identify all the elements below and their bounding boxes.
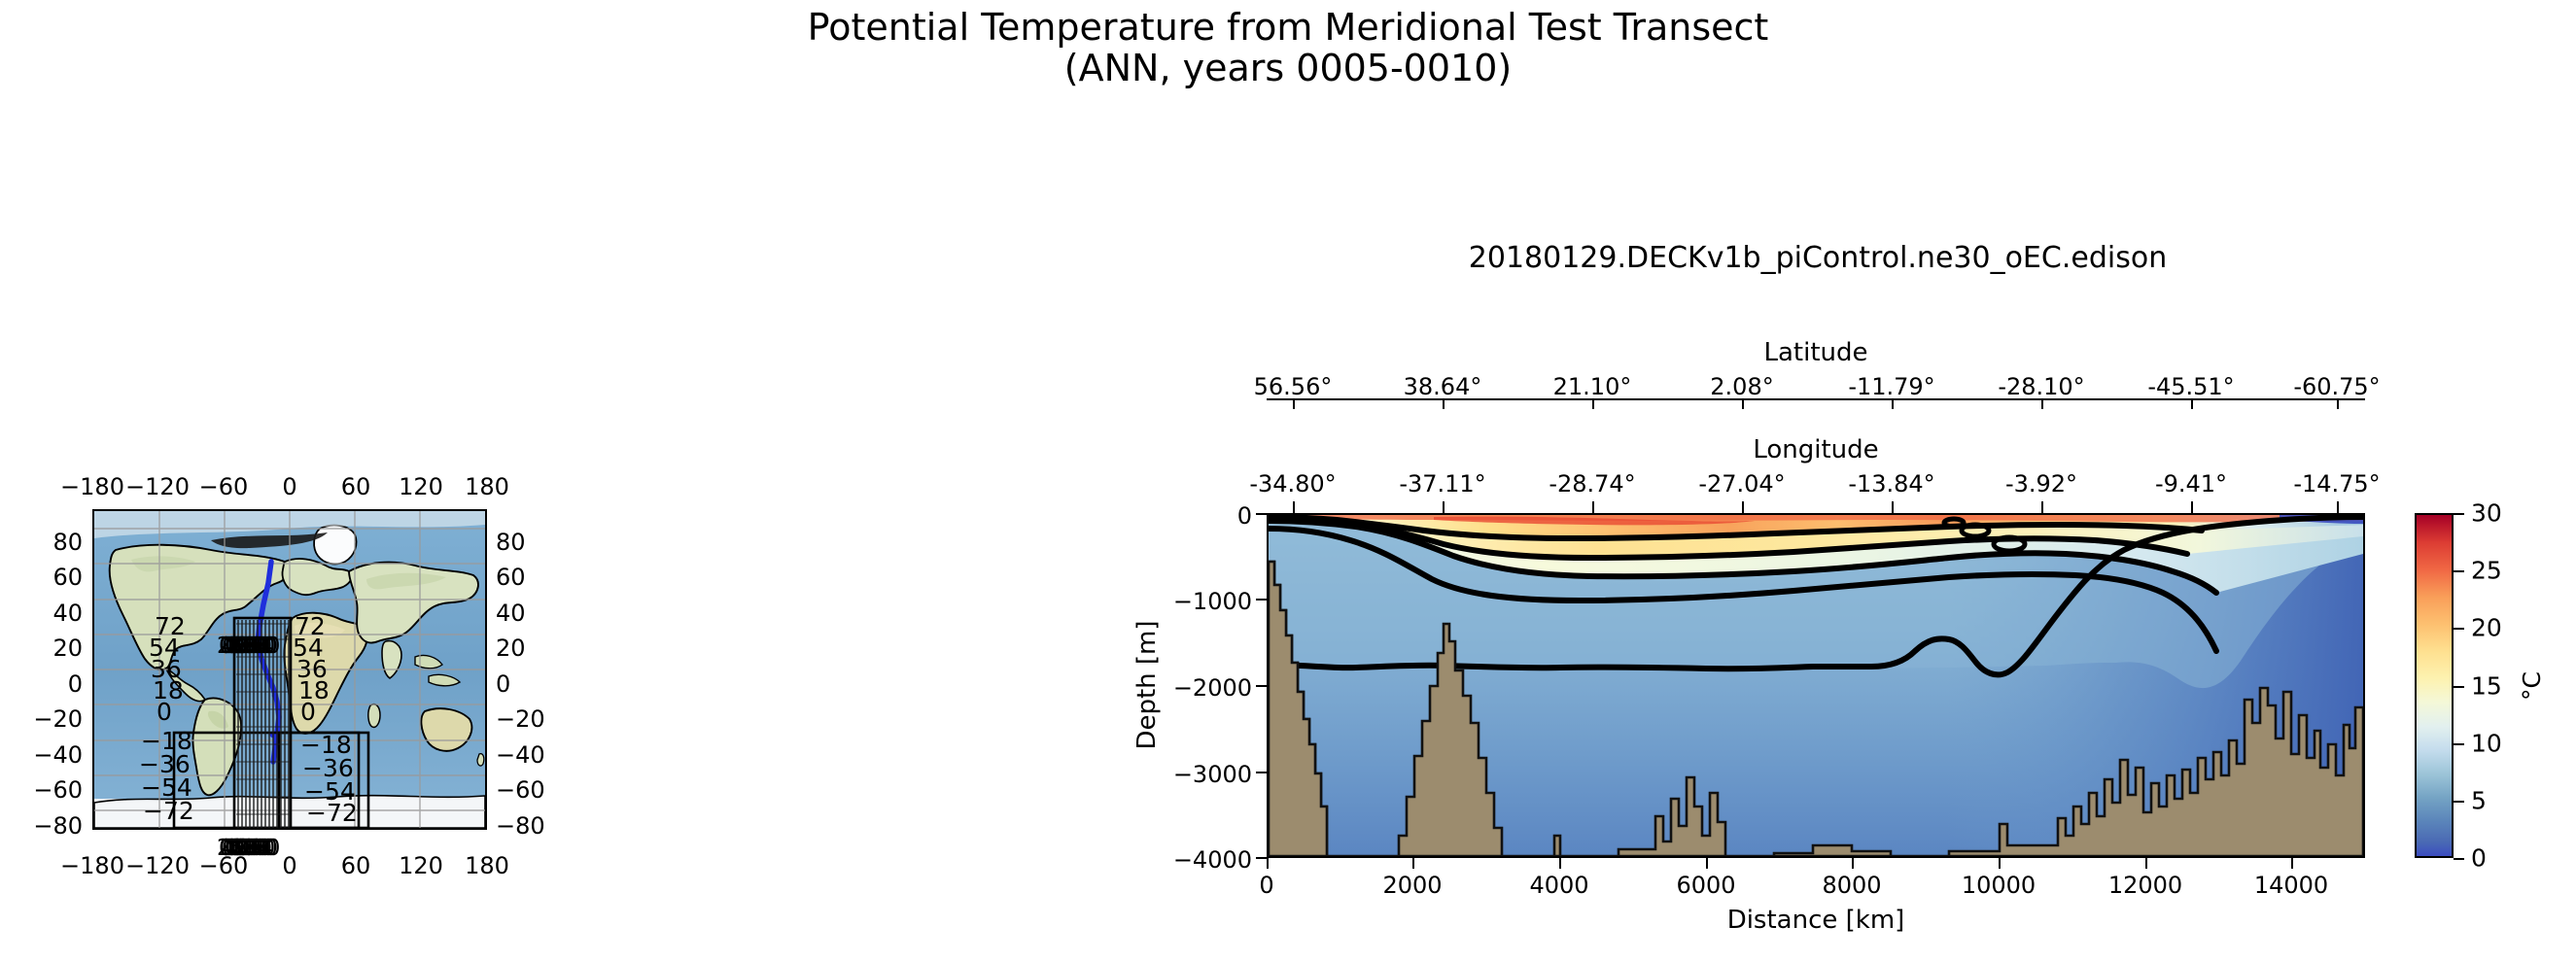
latitude-tick-0: 56.56°: [1254, 373, 1333, 400]
map-xtick-top-6: 180: [465, 473, 509, 500]
colorbar-gradient[interactable]: [2415, 513, 2454, 858]
longitude-axis-label: Longitude: [1753, 435, 1878, 464]
xtick-mark-2: [1559, 858, 1561, 869]
depth-tick-3: −3000: [1173, 761, 1252, 788]
cbtick-5: [2454, 570, 2464, 572]
map-xtick-bottom-4: 60: [341, 852, 371, 879]
map-xtick-top-4: 60: [341, 473, 371, 500]
top-tick-1: [1443, 501, 1445, 513]
figure-suptitle-line1: Potential Temperature from Meridional Te…: [808, 6, 1769, 49]
top-tick-3: [1742, 501, 1744, 513]
overlap-right-8: −72: [306, 799, 358, 827]
top-tick-7: [2337, 501, 2339, 513]
map-ytick-left-3: 20: [52, 635, 83, 662]
xtick-mark-1: [1412, 858, 1414, 869]
cbtick-0: [2454, 858, 2464, 860]
map-ytick-left-7: −60: [33, 776, 83, 804]
top-tick-4: [1892, 501, 1894, 513]
longitude-tick-1: -37.11°: [1399, 470, 1485, 498]
lat-tick-0: [1293, 398, 1295, 409]
colorbar-unit-label: °C: [2518, 671, 2546, 701]
distance-axis-label: Distance [km]: [1727, 906, 1905, 935]
ytick-mark-4: [1256, 857, 1267, 859]
latitude-tick-7: -60.75°: [2293, 373, 2380, 400]
map-ytick-right-3: 20: [496, 635, 526, 662]
map-ytick-right-4: 0: [496, 670, 510, 698]
section-axes[interactable]: [1267, 513, 2365, 858]
lat-tick-6: [2191, 398, 2193, 409]
xtick-mark-5: [1999, 858, 2001, 869]
overlap-left-4: 0: [157, 698, 172, 726]
map-xtick-bottom-6: 180: [465, 852, 509, 879]
map-xtick-top-2: −60: [199, 473, 249, 500]
overlap-left-8: −72: [143, 797, 194, 825]
longitude-tick-3: -27.04°: [1698, 470, 1785, 498]
cbtick-4: [2454, 628, 2464, 630]
lat-tick-5: [2041, 398, 2043, 409]
temperature-section-graphic: [1269, 515, 2363, 856]
overlap-bottom-labels: 0 2000 4000 6000 8000 10000 12000 14000: [219, 836, 268, 861]
latitude-tick-5: -28.10°: [1998, 373, 2084, 400]
lat-tick-2: [1592, 398, 1594, 409]
map-xtick-bottom-5: 120: [399, 852, 443, 879]
cblabel-2: 10: [2471, 730, 2502, 758]
ytick-mark-3: [1256, 772, 1267, 773]
lat-tick-1: [1443, 398, 1445, 409]
longitude-tick-4: -13.84°: [1848, 470, 1934, 498]
top-tick-6: [2191, 501, 2193, 513]
latitude-tick-1: 38.64°: [1404, 373, 1482, 400]
latitude-tick-2: 21.10°: [1553, 373, 1632, 400]
latitude-tick-3: 2.08°: [1710, 373, 1773, 400]
cblabel-3: 15: [2471, 672, 2502, 701]
cbtick-6: [2454, 513, 2464, 515]
map-xtick-top-3: 0: [282, 473, 296, 500]
ytick-mark-1: [1256, 599, 1267, 601]
map-ytick-right-5: −20: [496, 705, 545, 733]
colorbar[interactable]: 0 5 10 15 20 25 30 °C: [2415, 513, 2454, 858]
top-tick-5: [2041, 501, 2043, 513]
lat-tick-4: [1892, 398, 1894, 409]
longitude-tick-7: -14.75°: [2293, 470, 2380, 498]
map-axes[interactable]: 72 54 36 18 0 −18 −36 −54 −72 72 54 36 1…: [92, 509, 487, 830]
longitude-tick-2: -28.74°: [1549, 470, 1635, 498]
distance-tick-2: 4000: [1529, 872, 1588, 899]
cblabel-0: 0: [2471, 844, 2487, 873]
map-xtick-top-1: −120: [125, 473, 190, 500]
latitude-tick-4: -11.79°: [1848, 373, 1934, 400]
figure-canvas: Potential Temperature from Meridional Te…: [0, 0, 2576, 961]
distance-tick-5: 10000: [1962, 872, 2036, 899]
cblabel-4: 20: [2471, 614, 2502, 642]
depth-tick-0: 0: [1237, 502, 1252, 530]
map-ytick-right-6: −40: [496, 741, 545, 769]
cblabel-1: 5: [2471, 787, 2487, 815]
map-ytick-left-2: 40: [52, 600, 83, 627]
longitude-tick-0: -34.80°: [1249, 470, 1336, 498]
latitude-axis-label: Latitude: [1763, 338, 1867, 367]
depth-tick-4: −4000: [1173, 846, 1252, 874]
map-xtick-bottom-1: −120: [125, 852, 190, 879]
depth-axis-label: Depth [m]: [1132, 620, 1162, 749]
figure-suptitle-line2: (ANN, years 0005-0010): [1064, 47, 1512, 89]
distance-tick-4: 8000: [1822, 872, 1881, 899]
map-ytick-left-8: −80: [33, 812, 83, 840]
xtick-mark-7: [2291, 858, 2293, 869]
distance-tick-1: 2000: [1382, 872, 1442, 899]
distance-tick-3: 6000: [1676, 872, 1735, 899]
cbtick-2: [2454, 743, 2464, 745]
map-ytick-right-8: −80: [496, 812, 545, 840]
lat-tick-7: [2337, 398, 2339, 409]
longitude-tick-6: -9.41°: [2155, 470, 2227, 498]
distance-tick-7: 14000: [2254, 872, 2328, 899]
overlap-right-4: 0: [300, 698, 316, 726]
map-ytick-left-6: −40: [33, 741, 83, 769]
xtick-mark-3: [1706, 858, 1708, 869]
map-ytick-right-2: 40: [496, 600, 526, 627]
map-ytick-left-1: 60: [52, 564, 83, 591]
distance-tick-0: 0: [1259, 872, 1273, 899]
top-tick-2: [1592, 501, 1594, 513]
map-ytick-left-4: 0: [68, 670, 83, 698]
map-ytick-left-5: −20: [33, 705, 83, 733]
distance-tick-6: 12000: [2108, 872, 2182, 899]
cbtick-3: [2454, 686, 2464, 688]
xtick-mark-4: [1852, 858, 1854, 869]
map-ytick-left-0: 80: [52, 529, 83, 556]
cblabel-6: 30: [2471, 499, 2502, 528]
map-xtick-top-5: 120: [399, 473, 443, 500]
depth-tick-2: −2000: [1173, 674, 1252, 702]
map-ytick-right-0: 80: [496, 529, 526, 556]
cblabel-5: 25: [2471, 557, 2502, 585]
xtick-mark-0: [1267, 858, 1269, 869]
lat-tick-3: [1742, 398, 1744, 409]
map-xtick-top-0: −180: [60, 473, 124, 500]
depth-tick-1: −1000: [1173, 588, 1252, 615]
cbtick-1: [2454, 801, 2464, 803]
latitude-tick-6: -45.51°: [2147, 373, 2234, 400]
overlap-top-labels: 0 2000 4000 6000 8000 10000 12000 14000: [219, 634, 268, 659]
section-title: 20180129.DECKv1b_piControl.ne30_oEC.edis…: [1469, 241, 2167, 275]
ytick-mark-0: [1256, 513, 1267, 515]
map-xtick-bottom-3: 0: [282, 852, 296, 879]
longitude-tick-5: -3.92°: [2005, 470, 2077, 498]
xtick-mark-6: [2145, 858, 2147, 869]
map-plot-area[interactable]: 72 54 36 18 0 −18 −36 −54 −72 72 54 36 1…: [92, 509, 487, 830]
map-ytick-right-1: 60: [496, 564, 526, 591]
map-xtick-bottom-0: −180: [60, 852, 124, 879]
section-plot-area[interactable]: [1267, 513, 2365, 858]
ytick-mark-2: [1256, 685, 1267, 687]
map-ytick-right-7: −60: [496, 776, 545, 804]
top-tick-0: [1293, 501, 1295, 513]
latitude-axis-spine: [1267, 398, 2365, 400]
